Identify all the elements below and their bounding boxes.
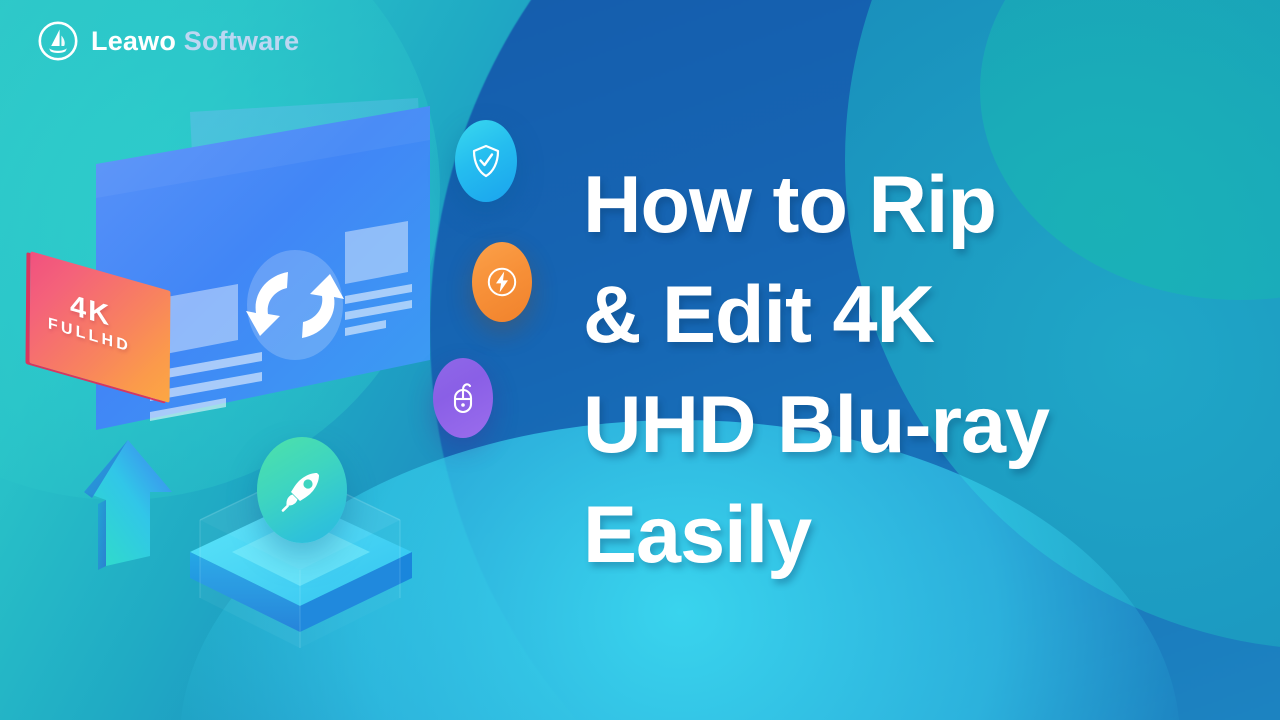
headline-line-1: How to Rip xyxy=(583,150,1243,260)
headline-block: How to Rip & Edit 4K UHD Blu-ray Easily xyxy=(583,150,1243,590)
feature-coin-speed xyxy=(472,242,532,322)
shield-check-icon xyxy=(471,144,501,178)
headline-line-4: Easily xyxy=(583,480,1243,590)
computer-mouse-icon xyxy=(448,380,478,416)
banner-canvas: Leawo Software xyxy=(0,0,1280,720)
hero-illustration: 4K FULLHD xyxy=(0,0,620,720)
rocket-icon xyxy=(279,467,325,513)
headline-line-3: UHD Blu-ray xyxy=(583,370,1243,480)
brand-name-secondary: Software xyxy=(184,26,300,56)
feature-coin-security xyxy=(455,120,517,202)
arrow-up-3d-icon xyxy=(84,440,172,570)
feature-coin-easy-control xyxy=(433,358,493,438)
lightning-bolt-icon xyxy=(486,266,518,298)
feature-coin-performance xyxy=(257,437,347,543)
leawo-sailboat-circle-logo-icon xyxy=(38,21,78,61)
brand-name-primary: Leawo xyxy=(91,26,176,56)
brand-logo-text: Leawo Software xyxy=(91,28,299,55)
headline-line-2: & Edit 4K xyxy=(583,260,1243,370)
brand-logo[interactable]: Leawo Software xyxy=(38,21,299,61)
